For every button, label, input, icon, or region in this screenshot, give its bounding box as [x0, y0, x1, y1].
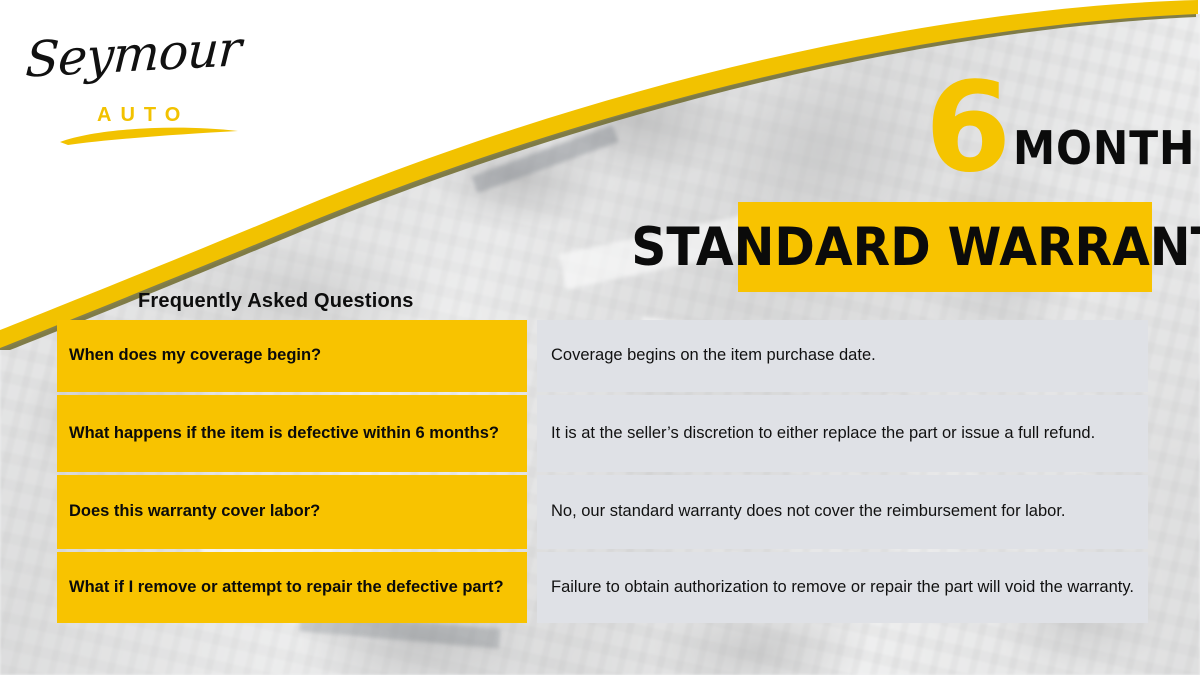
- warranty-slide: Seymour AUTO 6 MONTH STANDARD WARRANTY F…: [0, 0, 1200, 675]
- brand-logo: Seymour AUTO: [22, 26, 237, 134]
- faq-answer-text: No, our standard warranty does not cover…: [551, 501, 1066, 522]
- logo-wordmark: Seymour: [24, 20, 242, 88]
- table-row: When does my coverage begin? Coverage be…: [57, 320, 1148, 392]
- column-gap: [527, 475, 537, 549]
- faq-table: When does my coverage begin? Coverage be…: [57, 320, 1148, 626]
- standard-warranty-label: STANDARD WARRANTY: [631, 221, 1200, 274]
- column-gap: [527, 395, 537, 472]
- faq-question-cell: Does this warranty cover labor?: [57, 475, 527, 549]
- logo-swoosh-icon: [58, 122, 240, 146]
- faq-question-cell: What if I remove or attempt to repair th…: [57, 552, 527, 623]
- faq-answer-cell: Coverage begins on the item purchase dat…: [537, 320, 1148, 392]
- faq-answer-cell: It is at the seller’s discretion to eith…: [537, 395, 1148, 472]
- column-gap: [527, 552, 537, 623]
- table-row: Does this warranty cover labor? No, our …: [57, 475, 1148, 549]
- faq-answer-text: It is at the seller’s discretion to eith…: [551, 423, 1095, 444]
- table-row: What happens if the item is defective wi…: [57, 395, 1148, 472]
- faq-heading: Frequently Asked Questions: [138, 290, 414, 313]
- faq-answer-cell: Failure to obtain authorization to remov…: [537, 552, 1148, 623]
- faq-question-text: What happens if the item is defective wi…: [69, 423, 499, 444]
- faq-answer-text: Coverage begins on the item purchase dat…: [551, 345, 876, 366]
- warranty-months-number: 6: [925, 66, 1009, 190]
- faq-question-text: Does this warranty cover labor?: [69, 501, 320, 522]
- column-gap: [527, 320, 537, 392]
- faq-question-text: When does my coverage begin?: [69, 345, 321, 366]
- warranty-months-unit: MONTH: [1013, 125, 1195, 171]
- table-row: What if I remove or attempt to repair th…: [57, 552, 1148, 623]
- faq-question-cell: When does my coverage begin?: [57, 320, 527, 392]
- faq-question-text: What if I remove or attempt to repair th…: [69, 577, 504, 598]
- standard-warranty-banner: STANDARD WARRANTY: [738, 202, 1152, 292]
- faq-answer-cell: No, our standard warranty does not cover…: [537, 475, 1148, 549]
- faq-question-cell: What happens if the item is defective wi…: [57, 395, 527, 472]
- faq-answer-text: Failure to obtain authorization to remov…: [551, 577, 1134, 598]
